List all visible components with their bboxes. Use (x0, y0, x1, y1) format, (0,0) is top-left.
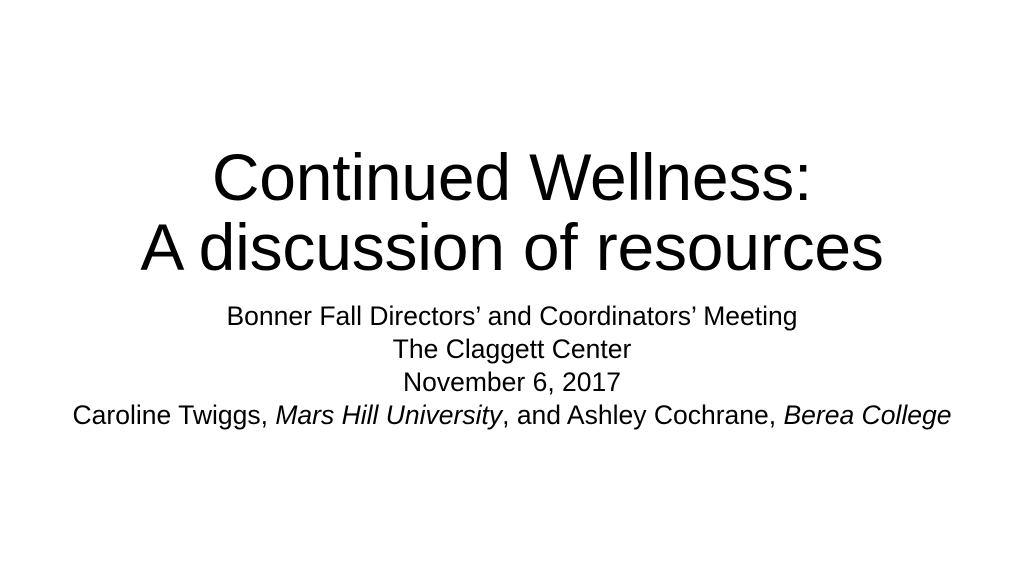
subtitle-line-venue: The Claggett Center (0, 333, 1024, 366)
subtitle-line-presenters: Caroline Twiggs, Mars Hill University, a… (0, 399, 1024, 432)
subtitle-line-meeting: Bonner Fall Directors’ and Coordinators’… (0, 300, 1024, 333)
presenter-two-affiliation: Berea College (783, 400, 951, 430)
title-line-1: Continued Wellness: (0, 142, 1024, 212)
presenter-one-affiliation: Mars Hill University (275, 400, 502, 430)
subtitle-line-date: November 6, 2017 (0, 366, 1024, 399)
title-slide: Continued Wellness: A discussion of reso… (0, 0, 1024, 576)
slide-subtitle: Bonner Fall Directors’ and Coordinators’… (0, 300, 1024, 432)
slide-title: Continued Wellness: A discussion of reso… (0, 142, 1024, 282)
presenter-conjunction: , and Ashley Cochrane, (502, 400, 776, 430)
title-line-2: A discussion of resources (0, 212, 1024, 282)
presenter-one-name: Caroline Twiggs, (73, 400, 268, 430)
